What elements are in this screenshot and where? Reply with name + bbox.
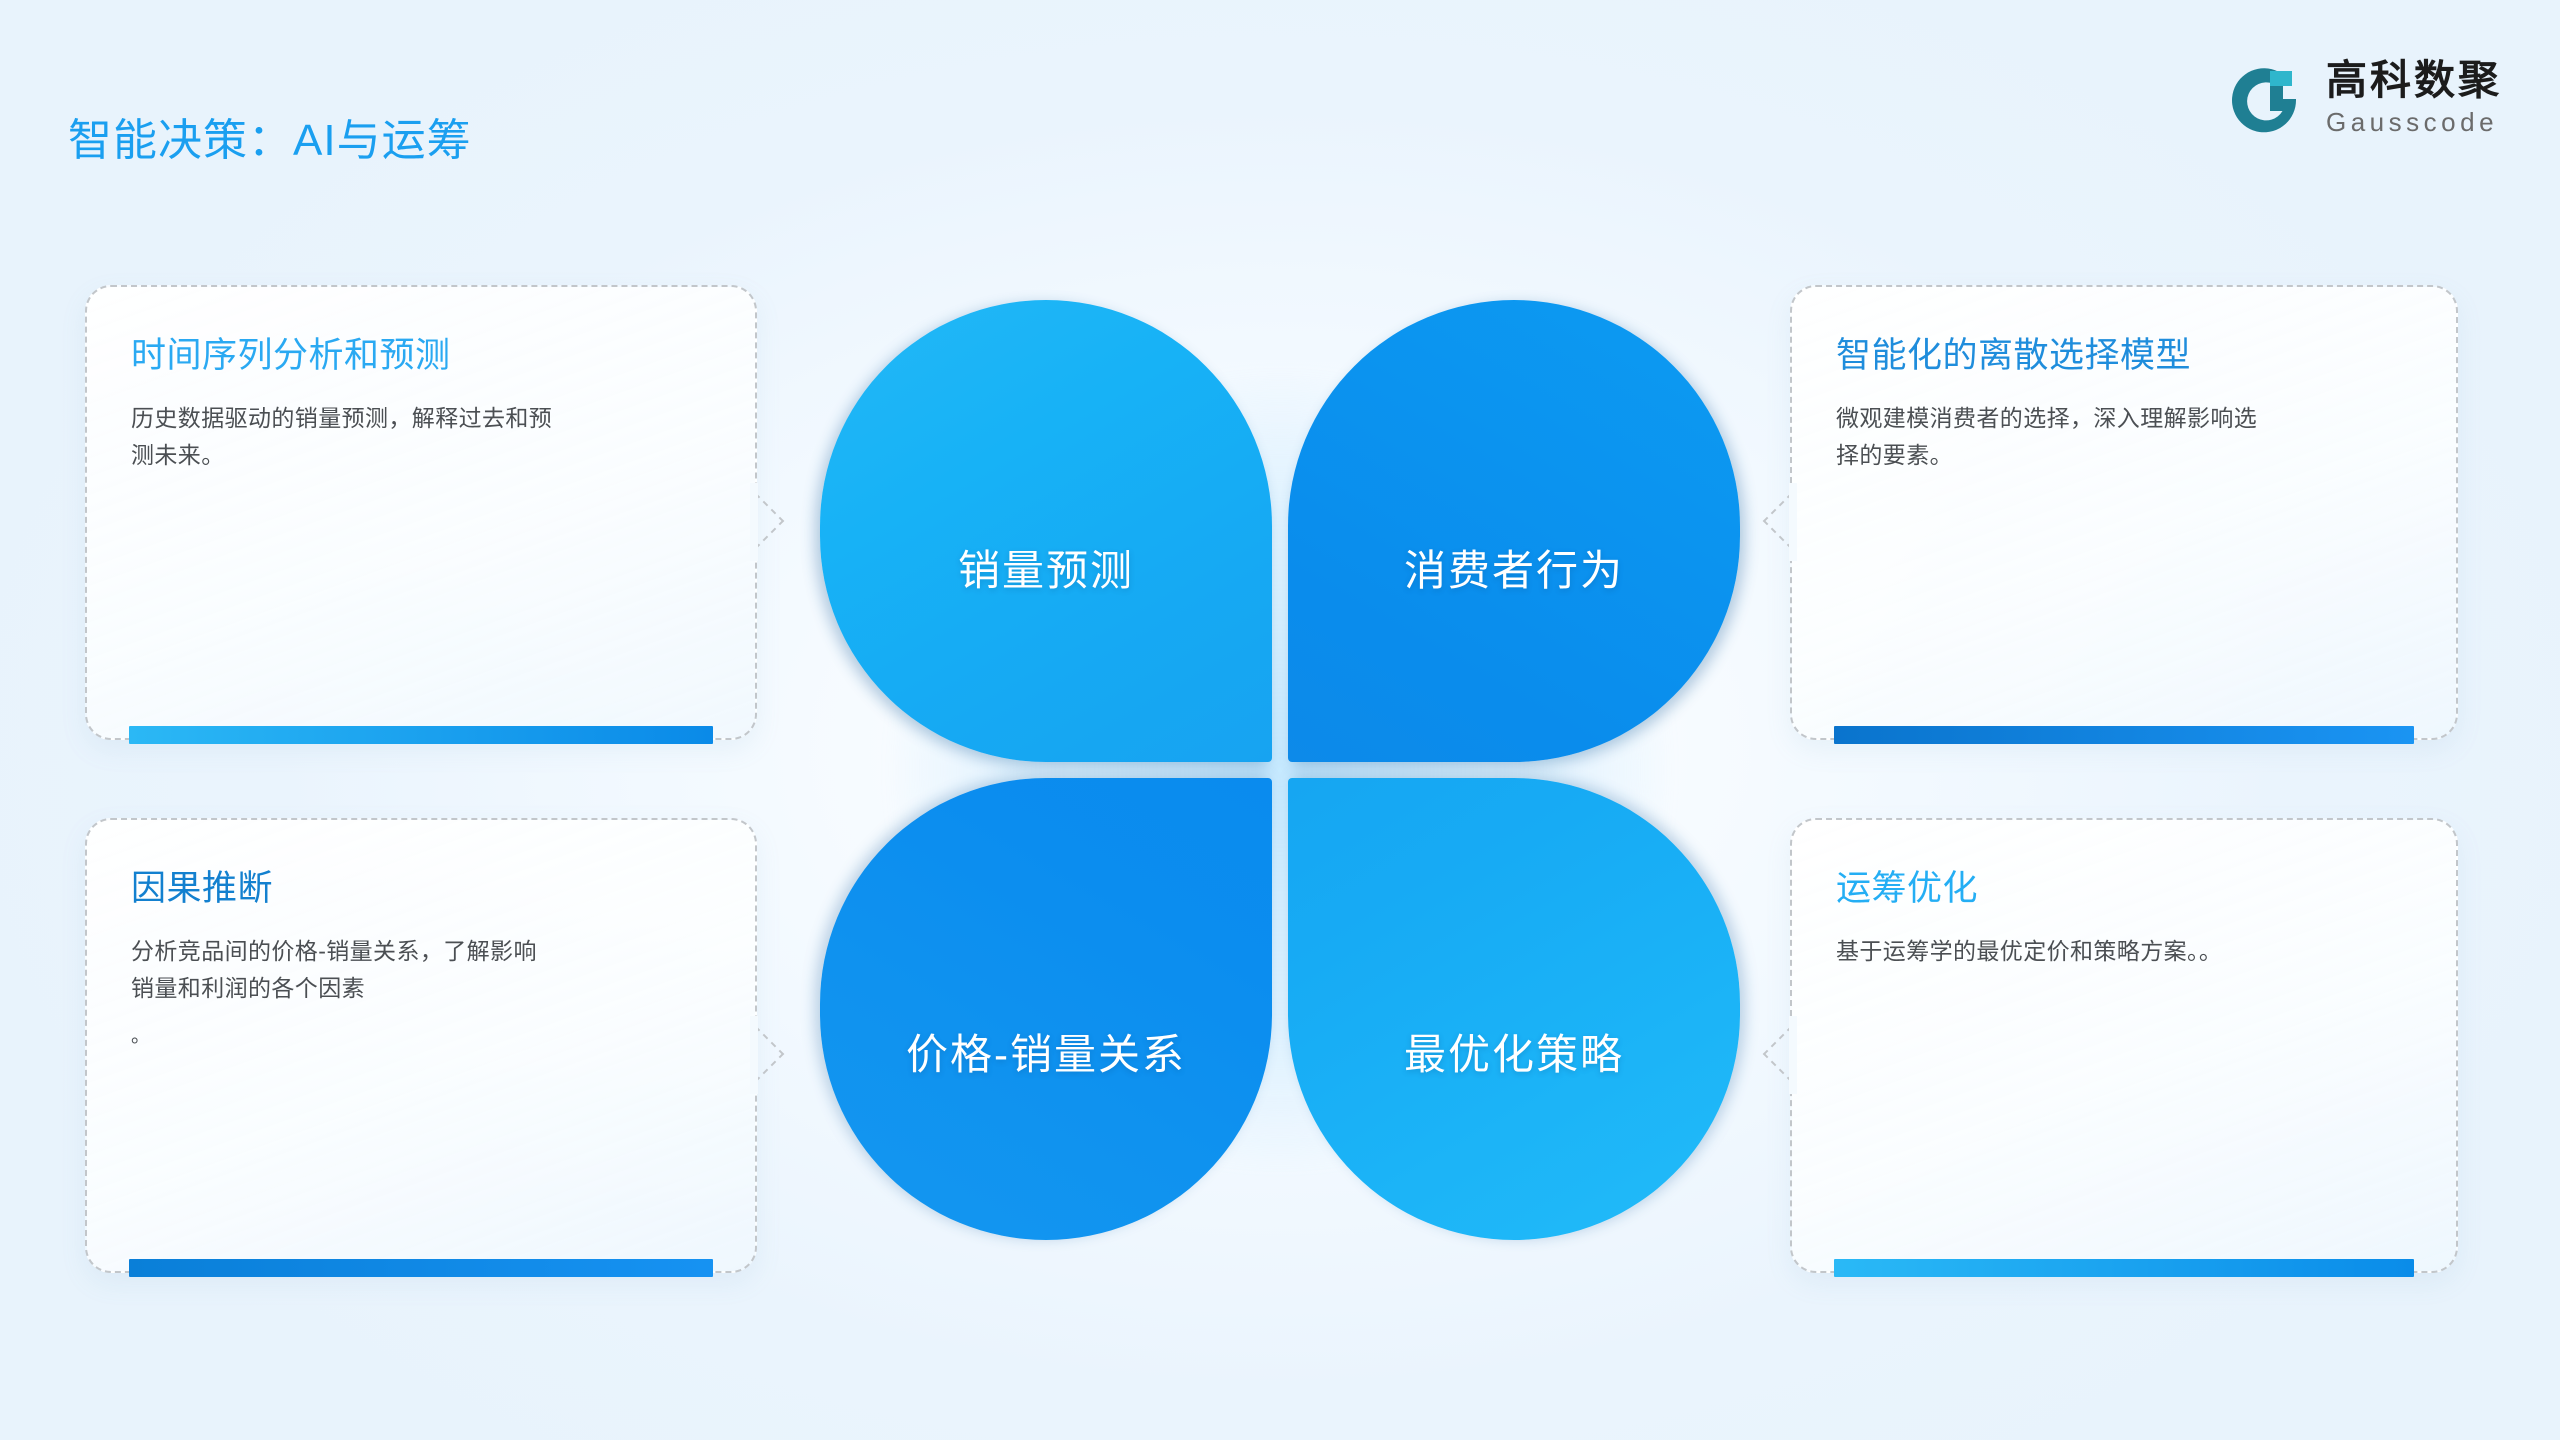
petal-label: 消费者行为 <box>1404 537 1624 598</box>
brand-logo-text: 高科数聚 Gausscode <box>2326 60 2502 135</box>
card-title: 时间序列分析和预测 <box>131 327 711 378</box>
card-content: 运筹优化 基于运筹学的最优定价和策略方案。。 <box>1836 860 2412 970</box>
petal-price-sales-relation[interactable]: 价格-销量关系 <box>820 778 1272 1240</box>
petal-label: 销量预测 <box>958 537 1134 598</box>
info-card-time-series[interactable]: 时间序列分析和预测 历史数据驱动的销量预测，解释过去和预 测未来。 <box>85 285 757 740</box>
card-accent-bar <box>1834 726 2414 744</box>
card-accent-bar <box>129 1259 713 1277</box>
info-card-discrete-choice[interactable]: 智能化的离散选择模型 微观建模消费者的选择，深入理解影响选 择的要素。 <box>1790 285 2458 740</box>
card-description: 历史数据驱动的销量预测，解释过去和预 测未来。 <box>131 400 711 475</box>
card-description-line: 测未来。 <box>131 437 711 474</box>
gausscode-g-mark-icon <box>2226 58 2304 136</box>
brand-name-cn: 高科数聚 <box>2326 60 2502 101</box>
card-description-line: 择的要素。 <box>1836 437 2412 474</box>
card-content: 时间序列分析和预测 历史数据驱动的销量预测，解释过去和预 测未来。 <box>131 327 711 475</box>
card-description-line: 微观建模消费者的选择，深入理解影响选 <box>1836 400 2412 437</box>
card-content: 因果推断 分析竞品间的价格-销量关系，了解影响 销量和利润的各个因素 。 <box>131 860 711 1052</box>
card-description-line: 基于运筹学的最优定价和策略方案。。 <box>1836 933 2412 970</box>
brand-logo: 高科数聚 Gausscode <box>2226 58 2502 136</box>
card-description: 分析竞品间的价格-销量关系，了解影响 销量和利润的各个因素 。 <box>131 933 711 1052</box>
card-title: 因果推断 <box>131 860 711 911</box>
slide-header: 智能决策：AI与运筹 高科数聚 Gausscode <box>0 0 2560 190</box>
page-title: 智能决策：AI与运筹 <box>68 104 472 168</box>
petal-label: 价格-销量关系 <box>906 1021 1186 1082</box>
brand-name-en: Gausscode <box>2326 109 2502 135</box>
card-title: 运筹优化 <box>1836 860 2412 911</box>
petal-consumer-behavior[interactable]: 消费者行为 <box>1288 300 1740 762</box>
info-card-operations-research[interactable]: 运筹优化 基于运筹学的最优定价和策略方案。。 <box>1790 818 2458 1273</box>
card-description-line: 销量和利润的各个因素 <box>131 970 711 1007</box>
petal-sales-forecast[interactable]: 销量预测 <box>820 300 1272 762</box>
card-title: 智能化的离散选择模型 <box>1836 327 2412 378</box>
card-description-line: 历史数据驱动的销量预测，解释过去和预 <box>131 400 711 437</box>
four-petal-diagram: 销量预测 消费者行为 价格-销量关系 最优化策略 <box>820 300 1740 1240</box>
card-description: 微观建模消费者的选择，深入理解影响选 择的要素。 <box>1836 400 2412 475</box>
notch-mask <box>750 483 758 561</box>
card-description: 基于运筹学的最优定价和策略方案。。 <box>1836 933 2412 970</box>
card-description-line: 分析竞品间的价格-销量关系，了解影响 <box>131 933 711 970</box>
petal-label: 最优化策略 <box>1404 1021 1624 1082</box>
card-accent-bar <box>1834 1259 2414 1277</box>
card-accent-bar <box>129 726 713 744</box>
petal-optimal-strategy[interactable]: 最优化策略 <box>1288 778 1740 1240</box>
notch-mask <box>750 1016 758 1094</box>
card-description-line: 。 <box>131 1022 711 1053</box>
info-card-causal-inference[interactable]: 因果推断 分析竞品间的价格-销量关系，了解影响 销量和利润的各个因素 。 <box>85 818 757 1273</box>
card-content: 智能化的离散选择模型 微观建模消费者的选择，深入理解影响选 择的要素。 <box>1836 327 2412 475</box>
